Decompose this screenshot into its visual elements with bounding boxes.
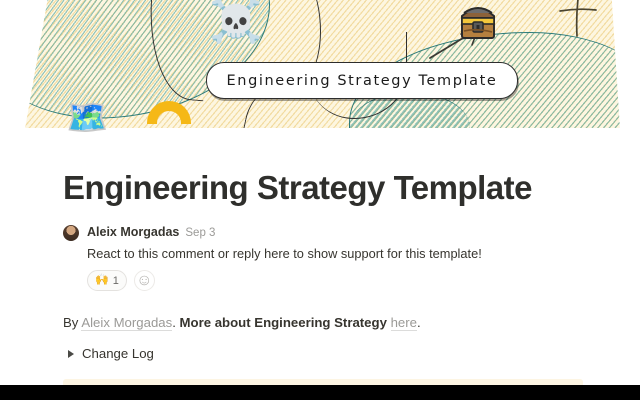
notion-page: ☠️ Engineering Strategy Template 🗺️ — [0, 0, 640, 400]
comment-reactions: 🙌 1 ☺ — [87, 270, 482, 291]
x-marks-the-spot-icon — [556, 0, 600, 38]
page-content: Engineering Strategy Template Aleix Morg… — [0, 128, 640, 400]
comment-body: Aleix Morgadas Sep 3 React to this comme… — [87, 224, 482, 291]
reaction-pill-raising-hands[interactable]: 🙌 1 — [87, 270, 127, 291]
comment-thread[interactable]: Aleix Morgadas Sep 3 React to this comme… — [0, 224, 640, 291]
avatar — [63, 225, 79, 241]
treasure-chest-icon — [456, 0, 500, 50]
byline-here-link[interactable]: here — [391, 315, 417, 331]
chevron-right-icon[interactable] — [68, 350, 74, 358]
cover-title-banner: Engineering Strategy Template — [206, 62, 518, 99]
comment-meta: Aleix Morgadas Sep 3 — [87, 224, 482, 241]
byline-author-link[interactable]: Aleix Morgadas — [81, 315, 172, 331]
toggle-change-log[interactable]: Change Log — [0, 344, 640, 364]
toggle-change-log-label: Change Log — [82, 344, 154, 364]
comment-author[interactable]: Aleix Morgadas — [87, 224, 179, 240]
treasure-map-illustration: ☠️ Engineering Strategy Template — [20, 0, 620, 128]
bottom-bar — [0, 385, 640, 400]
add-reaction-button[interactable]: ☺ — [134, 270, 155, 291]
byline-strong-text: More about Engineering Strategy — [180, 315, 391, 330]
byline-mid: . — [172, 315, 179, 330]
raising-hands-icon: 🙌 — [95, 275, 109, 286]
cover-title-banner-text: Engineering Strategy Template — [227, 73, 498, 89]
comment-date: Sep 3 — [185, 225, 215, 241]
byline-suffix: . — [417, 315, 421, 330]
reaction-count: 1 — [113, 275, 119, 287]
comment-text: React to this comment or reply here to s… — [87, 245, 482, 263]
skull-and-crossbones-icon: ☠️ — [209, 0, 263, 43]
page-title[interactable]: Engineering Strategy Template — [0, 128, 640, 207]
byline-prefix: By — [63, 315, 81, 330]
byline-paragraph: By Aleix Morgadas. More about Engineerin… — [0, 313, 640, 333]
page-icon-world-map[interactable]: 🗺️ — [66, 101, 108, 135]
